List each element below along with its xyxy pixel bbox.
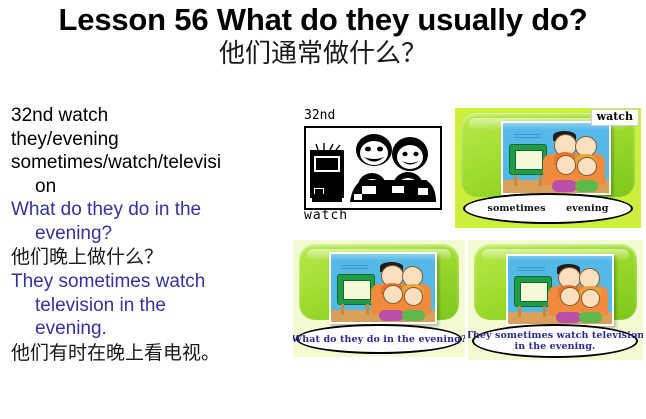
answer-english-line-1: They sometimes watch [11, 271, 205, 292]
slide-answer-caption-ellipse: They sometimes watch televisionin the ev… [472, 324, 638, 358]
flashcard-illustration [304, 126, 442, 210]
vocab-line-3-continuation: on [11, 175, 283, 199]
slide-answer-caption: They sometimes watch televisionin the ev… [468, 330, 643, 352]
flashcard-word-label: watch [304, 208, 348, 223]
television-leg-right [366, 304, 369, 315]
television-icon [337, 274, 374, 305]
television-leg-left [514, 175, 517, 186]
question-english-line-2: evening? [11, 222, 283, 246]
slide-watch-caption: sometimes evening [488, 203, 609, 214]
vocab-line-1: 32nd watch [11, 104, 283, 128]
question-chinese: 他们晚上做什么？ [11, 245, 283, 270]
slide-watch-photo [501, 121, 611, 195]
page-subtitle-chinese: 他们通常做什么？ [0, 38, 646, 70]
page-title: Lesson 56 What do they usually do? [0, 2, 646, 38]
photo-wall-scribble [514, 134, 542, 140]
question-english: What do they do in the evening? [11, 198, 283, 245]
television-leg-right [543, 306, 546, 317]
vocab-line-3: sometimes/watch/televisi on [11, 151, 283, 198]
slide-answer-caption-line-1: They sometimes watch television [468, 330, 643, 341]
child-one-body [556, 312, 581, 323]
vocab-line-3-text: sometimes/watch/televisi [11, 152, 221, 173]
slide-question-green-plate [299, 244, 459, 320]
slide-watch[interactable]: watch sometimes evening [455, 108, 641, 228]
watch-label-chip: watch [591, 109, 639, 126]
television-screen [515, 150, 543, 170]
child-two-head [577, 157, 597, 177]
title-block: Lesson 56 What do they usually do? 他们通常做… [0, 2, 646, 70]
child-one-head [556, 155, 576, 175]
slide-watch-caption-ellipse: sometimes evening [463, 193, 633, 224]
child-two-body [579, 312, 602, 323]
slide-question-caption: What do they do in the evening? [293, 334, 465, 345]
slide-answer-photo [506, 254, 614, 326]
flashcard-number-label: 32nd [300, 108, 446, 124]
slide-answer-caption-line-2: in the evening. [515, 341, 596, 352]
child-one-head [560, 287, 580, 306]
child-two-head [581, 289, 601, 308]
lesson-text-column: 32nd watch they/evening sometimes/watch/… [11, 104, 283, 366]
television-leg-left [341, 304, 344, 315]
question-english-line-1: What do they do in the [11, 199, 201, 220]
slide-answer[interactable]: They sometimes watch televisionin the ev… [468, 240, 643, 360]
television-icon [509, 144, 547, 175]
television-screen [520, 282, 547, 302]
photo-wall-scribble [518, 267, 545, 272]
family-watching-tv-bw-icon [306, 128, 440, 208]
slide-answer-green-plate [474, 244, 637, 320]
television-leg-left [518, 306, 521, 317]
slide-question-photo [329, 252, 437, 324]
child-one-head [383, 285, 403, 304]
television-screen [343, 280, 370, 300]
child-one-body [552, 180, 577, 191]
vocab-line-2: they/evening [11, 128, 283, 152]
child-two-body [575, 180, 598, 191]
television-icon [514, 276, 551, 307]
slide-question-caption-ellipse: What do they do in the evening? [296, 324, 462, 354]
television-leg-right [539, 175, 542, 186]
slide-question[interactable]: What do they do in the evening? [293, 240, 465, 357]
flashcard-black-white: 32nd [300, 108, 446, 226]
child-two-body [402, 310, 425, 321]
answer-chinese: 他们有时在晚上看电视。 [11, 341, 283, 366]
photo-wall-scribble [341, 265, 368, 270]
answer-english-line-3: evening. [11, 317, 283, 341]
answer-english-line-2: television in the [11, 294, 283, 318]
answer-english: They sometimes watch television in the e… [11, 270, 283, 341]
child-one-body [379, 310, 404, 321]
child-two-head [404, 287, 424, 306]
